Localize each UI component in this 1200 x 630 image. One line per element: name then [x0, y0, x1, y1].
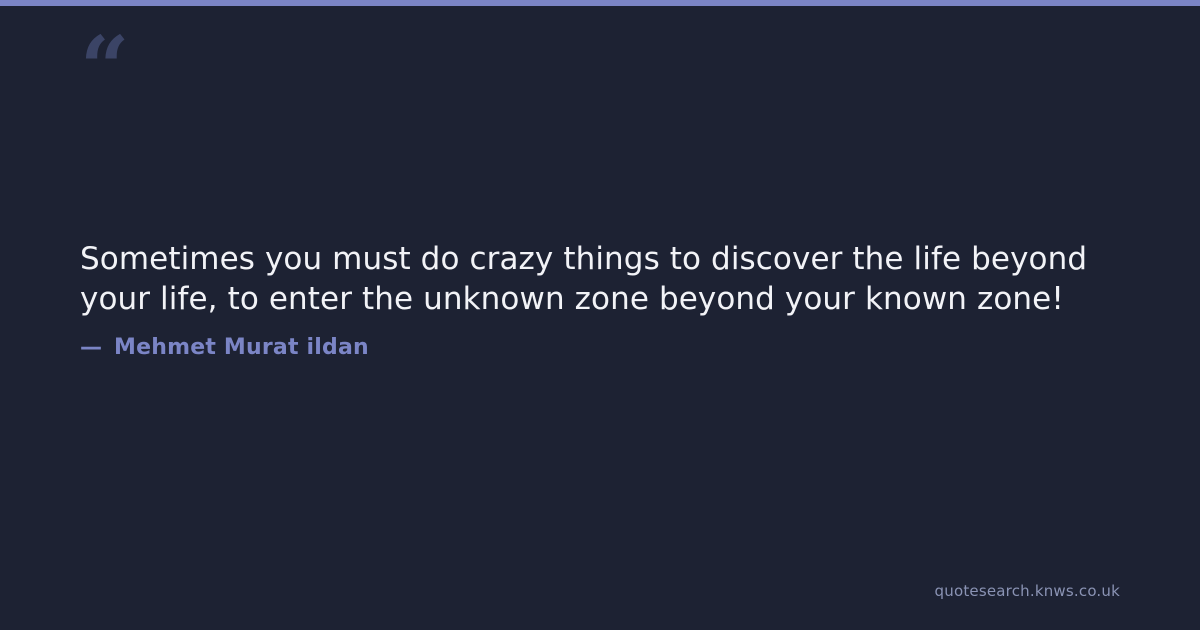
- attribution-dash: —: [80, 337, 102, 359]
- quote-text: Sometimes you must do crazy things to di…: [80, 240, 1120, 319]
- top-accent-bar: [0, 0, 1200, 6]
- quote-card: “ Sometimes you must do crazy things to …: [0, 0, 1200, 630]
- attribution: — Mehmet Murat ildan: [80, 337, 369, 359]
- author-name: Mehmet Murat ildan: [114, 337, 369, 359]
- quotation-mark-icon: “: [80, 26, 127, 112]
- site-url: quotesearch.knws.co.uk: [935, 582, 1120, 600]
